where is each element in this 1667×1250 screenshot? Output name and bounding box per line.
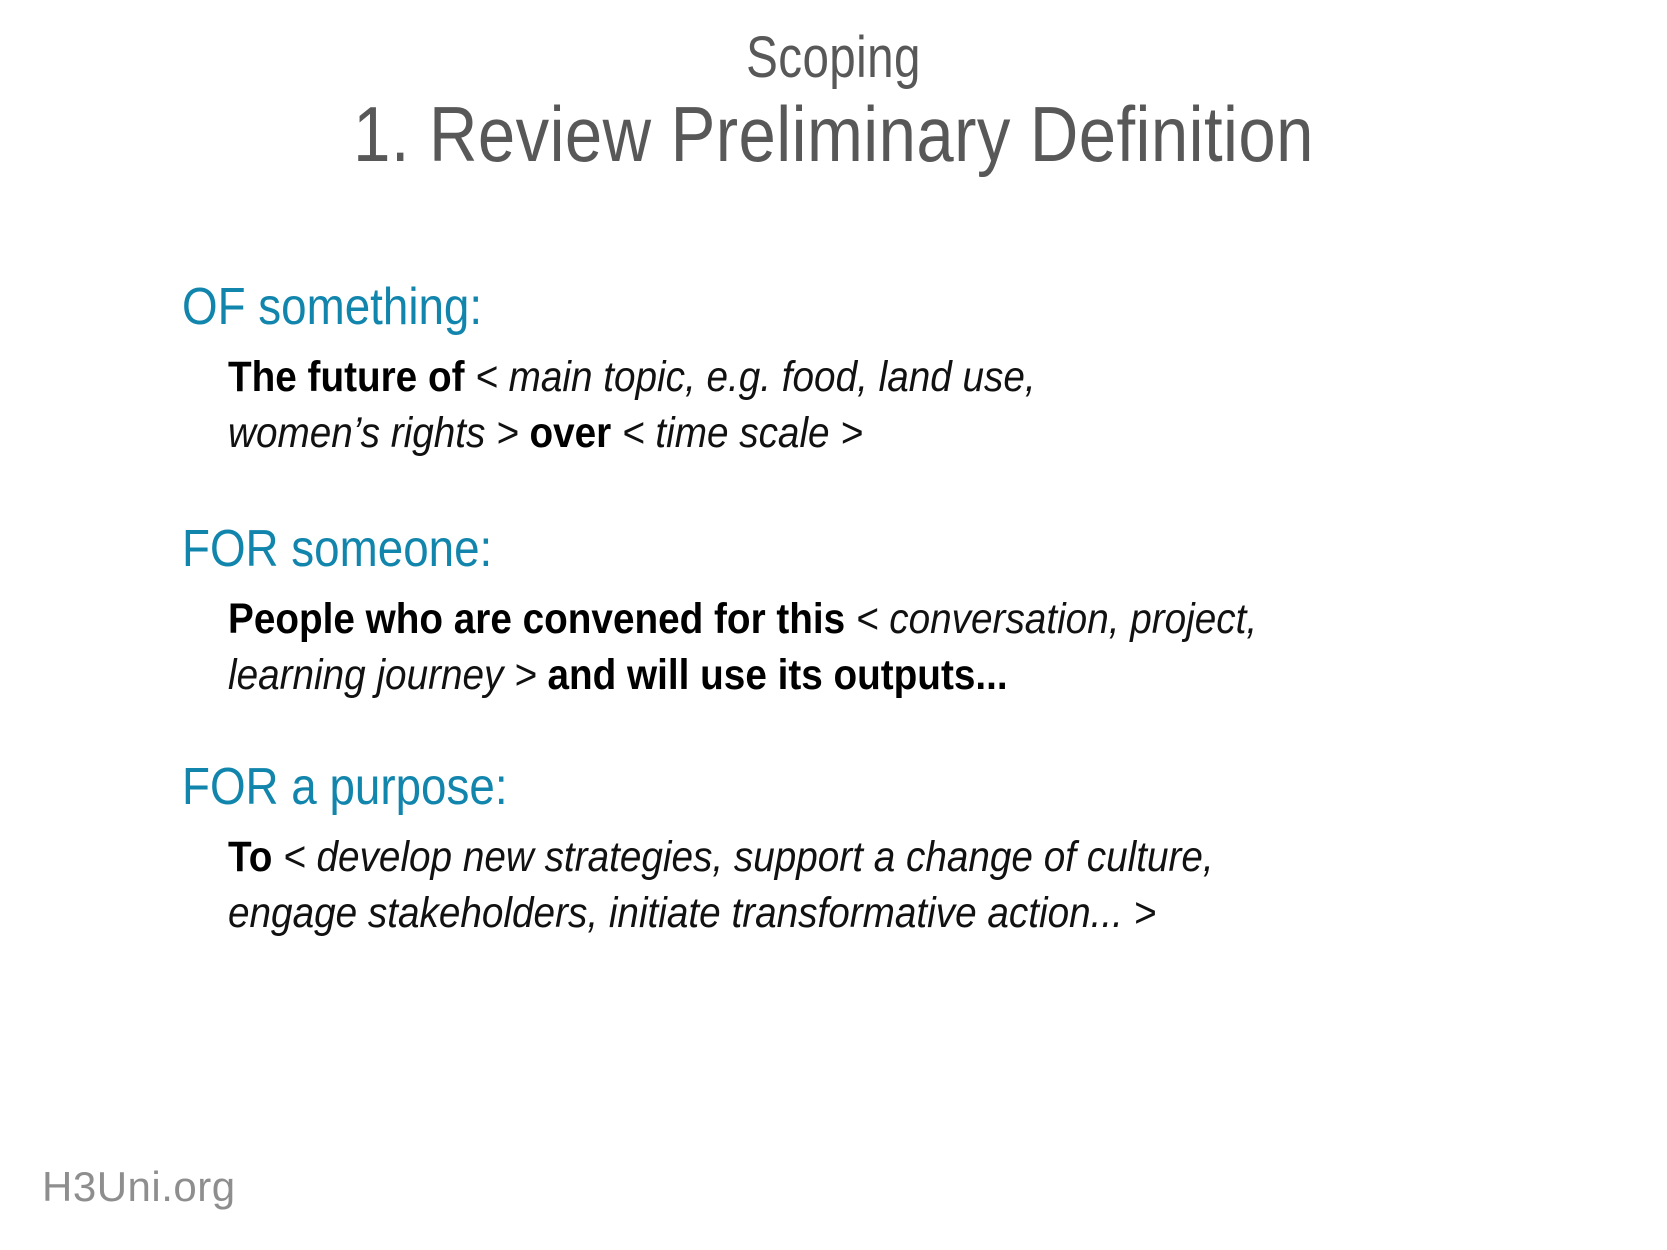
body-line: learning journey > and will use its outp…: [228, 648, 1560, 704]
section-of-something: OF something: The future of < main topic…: [182, 278, 1522, 462]
section-body-of-something: The future of < main topic, e.g. food, l…: [228, 350, 1560, 462]
section-body-for-a-purpose: To < develop new strategies, support a c…: [228, 830, 1560, 942]
text-run-bold: The future of: [228, 353, 475, 401]
section-heading-for-a-purpose: FOR a purpose:: [182, 758, 1361, 816]
section-heading-for-someone: FOR someone:: [182, 520, 1361, 578]
section-for-a-purpose: FOR a purpose: To < develop new strategi…: [182, 758, 1522, 942]
text-run-italic: < time scale >: [622, 409, 863, 457]
text-run-italic: women’s rights >: [228, 409, 530, 457]
footer-brand: H3Uni.org: [42, 1166, 236, 1208]
text-run-bold: To: [228, 833, 283, 881]
text-run-italic: < develop new strategies, support a chan…: [283, 833, 1213, 881]
section-heading-of-something: OF something:: [182, 278, 1361, 336]
title-kicker: Scoping: [150, 28, 1517, 89]
body-line: To < develop new strategies, support a c…: [228, 830, 1560, 886]
slide-title: Scoping 1. Review Preliminary Definition: [0, 28, 1667, 178]
text-run-italic: < conversation, project,: [856, 595, 1257, 643]
body-line: People who are convened for this < conve…: [228, 592, 1560, 648]
slide-body: OF something: The future of < main topic…: [182, 278, 1522, 942]
text-run-italic: engage stakeholders, initiate transforma…: [228, 889, 1156, 937]
slide-canvas: Scoping 1. Review Preliminary Definition…: [0, 0, 1667, 1250]
section-for-someone: FOR someone: People who are convened for…: [182, 520, 1522, 704]
text-run-bold: People who are convened for this: [228, 595, 856, 643]
section-body-for-someone: People who are convened for this < conve…: [228, 592, 1560, 704]
body-line: women’s rights > over < time scale >: [228, 406, 1560, 462]
page-title: 1. Review Preliminary Definition: [117, 91, 1551, 178]
text-run-italic: < main topic, e.g. food, land use,: [475, 353, 1035, 401]
text-run-bold: over: [530, 409, 623, 457]
text-run-bold: and will use its outputs...: [547, 651, 1007, 699]
body-line: engage stakeholders, initiate transforma…: [228, 886, 1560, 942]
text-run-italic: learning journey >: [228, 651, 547, 699]
body-line: The future of < main topic, e.g. food, l…: [228, 350, 1560, 406]
